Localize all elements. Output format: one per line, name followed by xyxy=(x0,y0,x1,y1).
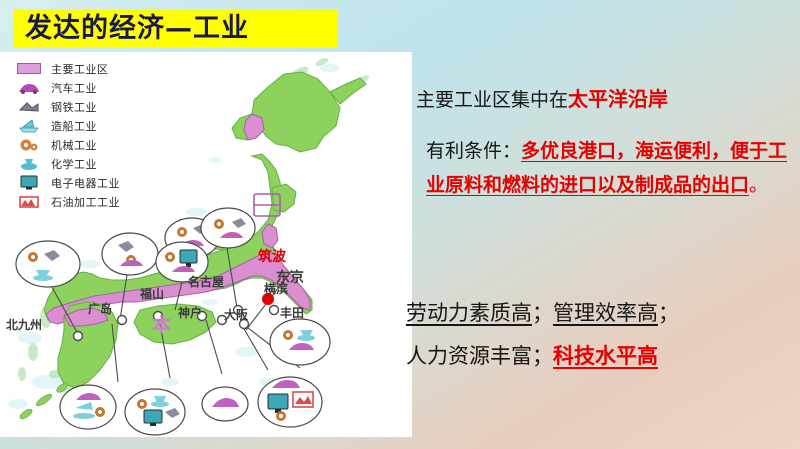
city-dot-toyota xyxy=(270,306,279,315)
oil-refinery-icon xyxy=(293,392,313,407)
city-label-hiroshima: 广岛 xyxy=(88,300,112,317)
gear-icon xyxy=(137,399,147,409)
map-legend: 主要工业区 汽车工业 钢铁工业 造船工业 机械工业 xyxy=(14,59,164,211)
car-icon xyxy=(14,80,44,96)
callout-bubble-tokyo xyxy=(270,319,330,365)
city-label-kitakyushu: 北九州 xyxy=(6,316,42,333)
slide-title-banner: 发达的经济—工业 xyxy=(13,9,338,48)
city-label-fukuyama: 福山 xyxy=(140,285,164,302)
city-label-tokyo: 东京 xyxy=(276,267,304,287)
text-line-labor-and-management: 劳动力素质高；管理效率高； xyxy=(406,297,679,330)
text-segment-red-tech-level: 科技水平高 xyxy=(553,344,658,368)
legend-label: 主要工业区 xyxy=(51,61,109,77)
city-label-kobe: 神户 xyxy=(178,304,202,321)
city-label-toyoda: 丰田 xyxy=(280,304,304,321)
text-segment-red-pacific-coast: 太平洋沿岸 xyxy=(568,89,668,111)
text-separator-2: ； xyxy=(658,301,679,325)
legend-item-electronics: 电子电器工业 xyxy=(14,173,164,192)
legend-label: 石油加工工业 xyxy=(51,194,120,210)
text-line-human-resources-and-tech: 人力资源丰富；科技水平高 xyxy=(406,340,658,373)
callout-bubble-kitakyushu xyxy=(16,241,80,287)
lesson-text-column: 主要工业区集中在太平洋沿岸 有利条件：多优良港口，海运便利，便于工业原料和燃料的… xyxy=(412,0,800,449)
text-segment-management-efficiency: 管理效率高 xyxy=(553,301,658,325)
legend-item-industrial-zone: 主要工业区 xyxy=(14,59,164,78)
callout-bubble-bottom-car xyxy=(202,387,248,421)
gear-icon xyxy=(14,137,44,153)
oil-refinery-icon xyxy=(14,194,44,210)
gear-icon xyxy=(214,219,224,229)
gear-icon xyxy=(276,411,286,421)
text-block-favorable-conditions: 有利条件：多优良港口，海运便利，便于工业原料和燃料的进口以及制成品的出口。 xyxy=(426,135,798,203)
callout-bubble-hiroshima xyxy=(102,233,158,275)
monitor-icon xyxy=(14,175,44,191)
city-label-tsukuba: 筑波 xyxy=(258,246,286,266)
gear-icon xyxy=(283,330,293,340)
city-dot-kitakyushu xyxy=(74,332,83,341)
map-kanji-hon: 本 xyxy=(152,310,171,337)
legend-item-oil-refining: 石油加工工业 xyxy=(14,192,164,211)
gear-icon xyxy=(28,252,38,262)
legend-item-steel: 钢铁工业 xyxy=(14,97,164,116)
callout-bubble-bottom-chugoku xyxy=(125,389,185,435)
text-line-main-industrial-belt: 主要工业区集中在太平洋沿岸 xyxy=(416,84,668,117)
legend-label: 化学工业 xyxy=(51,156,97,172)
text-separator-1: ； xyxy=(532,301,553,325)
legend-item-automobile: 汽车工业 xyxy=(14,78,164,97)
city-dot-hiroshima xyxy=(118,316,127,325)
text-segment-black: 主要工业区集中在 xyxy=(416,90,568,111)
ship-icon xyxy=(14,118,44,134)
city-label-nagoya: 名古屋 xyxy=(188,273,224,290)
japan-industry-map-panel: 主要工业区 汽车工业 钢铁工业 造船工业 机械工业 xyxy=(0,52,412,437)
legend-label: 造船工业 xyxy=(51,118,97,134)
hokkaido-landmass xyxy=(252,72,340,152)
honshu-northeast-bulge xyxy=(272,184,296,212)
text-segment-human-resources: 人力资源丰富； xyxy=(406,344,553,368)
legend-label: 机械工业 xyxy=(51,137,97,153)
legend-item-machinery: 机械工业 xyxy=(14,135,164,154)
text-label-favorable-conditions: 有利条件： xyxy=(426,141,521,162)
legend-item-shipbuilding: 造船工业 xyxy=(14,116,164,135)
gear-icon xyxy=(95,407,105,417)
text-segment-period: 。 xyxy=(749,175,768,196)
gear-icon xyxy=(177,227,187,237)
legend-label: 钢铁工业 xyxy=(51,99,97,115)
callout-bubble-bottom-keihin xyxy=(258,377,322,427)
callout-bubble-nagoya xyxy=(201,208,255,248)
text-segment-labor-quality: 劳动力素质高 xyxy=(406,301,532,325)
flask-icon xyxy=(14,156,44,172)
callout-bubble-bottom-kyushu xyxy=(60,385,116,429)
legend-item-chemical: 化学工业 xyxy=(14,154,164,173)
city-label-osaka: 大阪 xyxy=(224,306,248,323)
steel-icon xyxy=(14,99,44,115)
legend-label: 汽车工业 xyxy=(51,80,97,96)
legend-label: 电子电器工业 xyxy=(51,175,120,191)
zone-swatch-icon xyxy=(14,61,44,77)
page-title: 发达的经济—工业 xyxy=(13,15,249,42)
gear-icon xyxy=(165,252,175,262)
